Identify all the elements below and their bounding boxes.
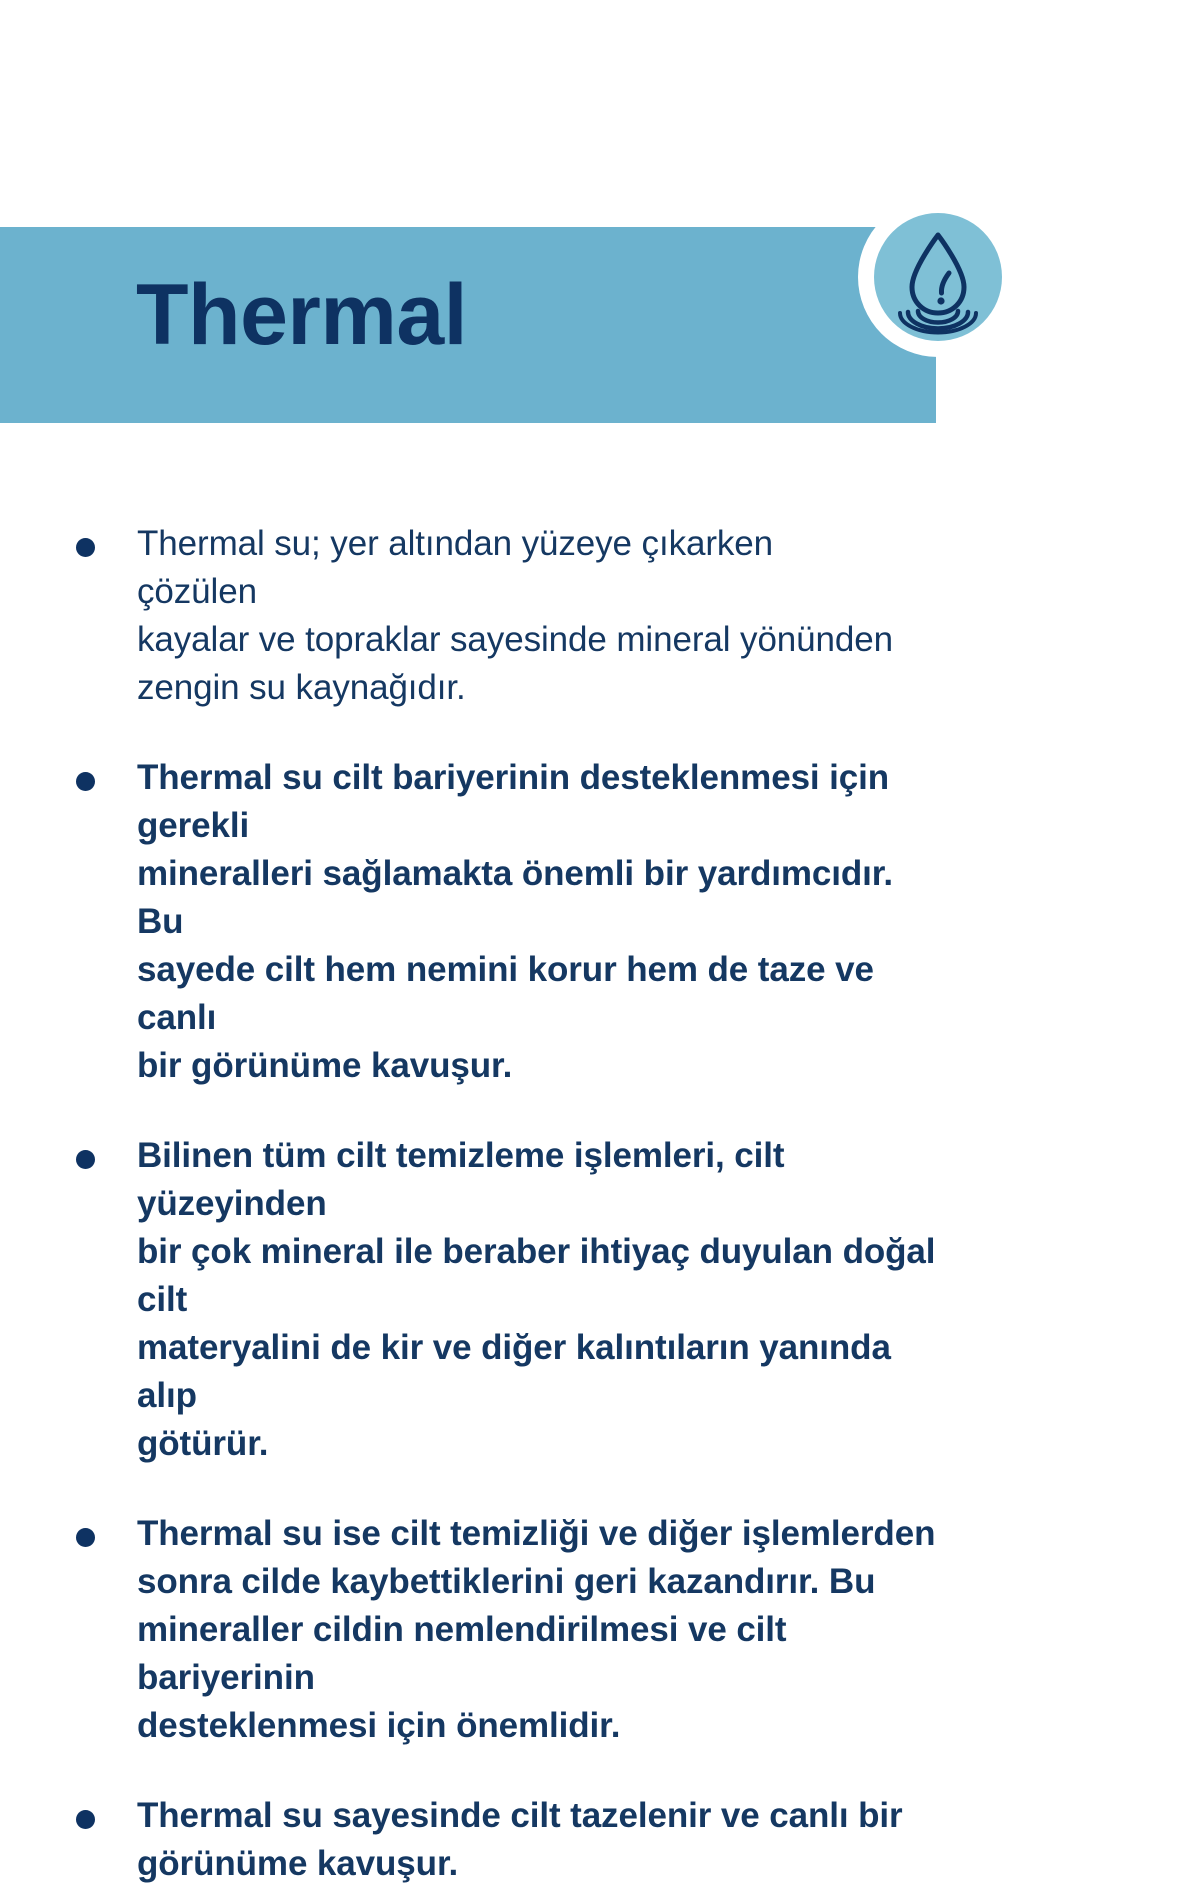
- list-item: Thermal su sayesinde cilt tazelenir ve c…: [0, 1792, 1200, 1888]
- bullet-dot-icon: [76, 1810, 95, 1829]
- list-item: Thermal su cilt bariyerinin desteklenmes…: [0, 754, 1200, 1090]
- bullet-dot-icon: [76, 538, 95, 557]
- bullet-dot-icon: [76, 1150, 95, 1169]
- bullet-dot-icon: [76, 1528, 95, 1547]
- list-item-text: Thermal su cilt bariyerinin desteklenmes…: [137, 754, 947, 1090]
- list-item-text: Thermal su sayesinde cilt tazelenir ve c…: [137, 1792, 927, 1888]
- list-item: Thermal su; yer altından yüzeye çıkarken…: [0, 520, 1200, 712]
- list-item-text: Thermal su ise cilt temizliği ve diğer i…: [137, 1510, 937, 1750]
- water-drop-icon: [874, 213, 1002, 341]
- list-item: Thermal su ise cilt temizliği ve diğer i…: [0, 1510, 1200, 1750]
- list-item-text: Bilinen tüm cilt temizleme işlemleri, ci…: [137, 1132, 947, 1468]
- list-item: Bilinen tüm cilt temizleme işlemleri, ci…: [0, 1132, 1200, 1468]
- list-item-text: Thermal su; yer altından yüzeye çıkarken…: [137, 520, 897, 712]
- page-title: Thermal: [136, 272, 467, 358]
- bullet-list: Thermal su; yer altından yüzeye çıkarken…: [0, 520, 1200, 1888]
- bullet-dot-icon: [76, 772, 95, 791]
- header-badge: [858, 197, 1018, 357]
- page-root: Thermal Thermal su; yer altından yüzeye …: [0, 0, 1200, 1800]
